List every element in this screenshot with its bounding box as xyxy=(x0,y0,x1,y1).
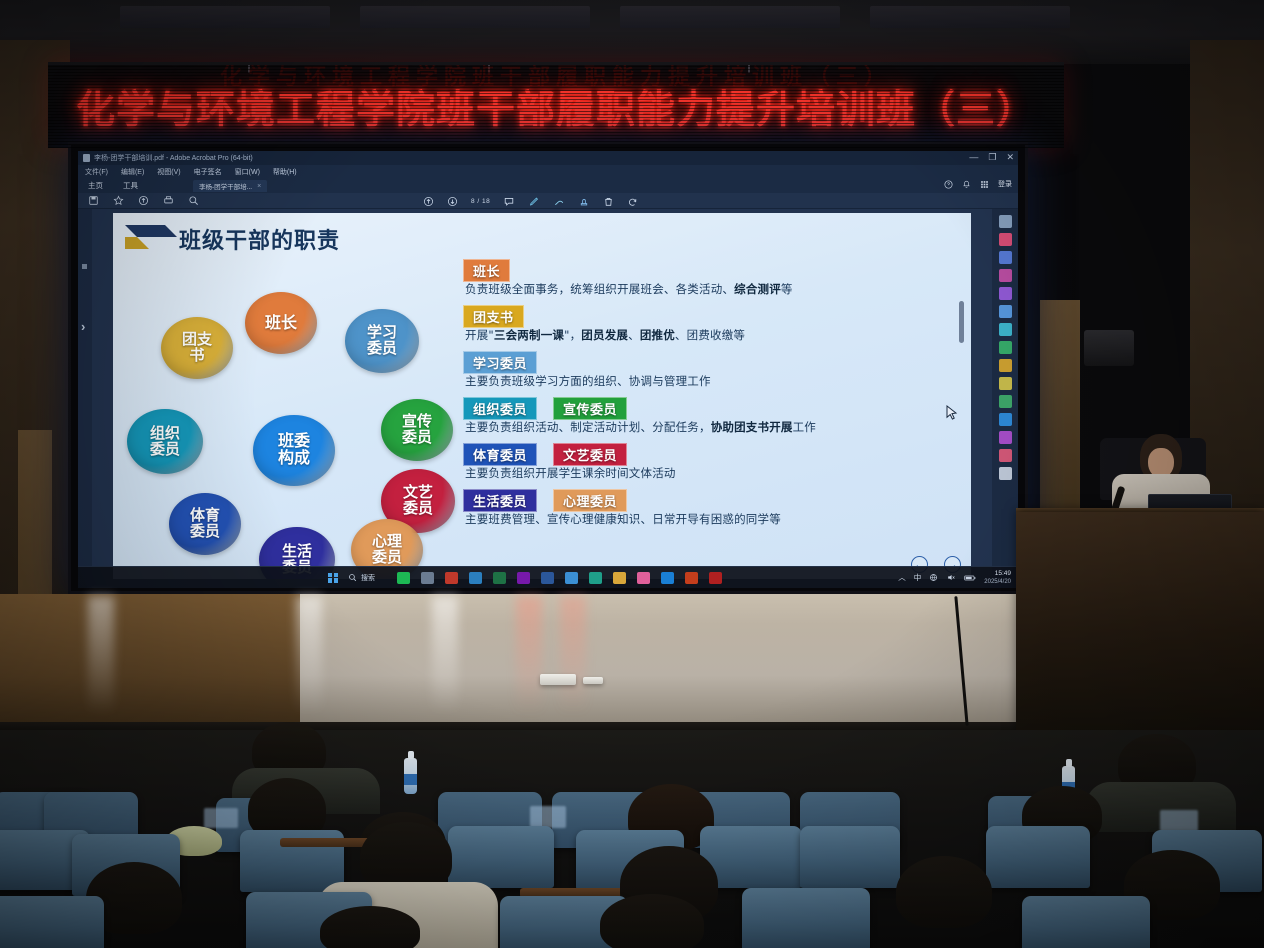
role-tag: 班长 xyxy=(463,259,510,282)
app-icon-wps-writer[interactable] xyxy=(445,572,458,584)
ime-indicator[interactable]: 中 xyxy=(914,572,922,583)
system-tray: ︿ 中 15:49 2025/4/20 xyxy=(898,570,1011,586)
role-bubble-label: 委员 xyxy=(367,341,397,357)
floor-reflection xyxy=(516,596,542,714)
role-description-part: 主要负责组织活动、制定活动计划、分配任务， xyxy=(465,420,711,434)
ceiling xyxy=(0,0,1264,64)
star-icon[interactable] xyxy=(113,195,124,206)
search-icon[interactable] xyxy=(188,195,199,206)
role-description: 负责班级全面事务，统筹组织开展班会、各类活动、综合测评等 xyxy=(465,281,793,297)
role-bubble: 宣传委员 xyxy=(381,399,453,461)
bell-icon[interactable] xyxy=(962,180,971,189)
page-indicator[interactable]: 8 / 18 xyxy=(471,198,490,205)
close-icon[interactable]: × xyxy=(257,183,261,190)
role-bubble-label: 委员 xyxy=(403,501,433,517)
acrobat-tools-rail xyxy=(992,209,1018,588)
laptop-glow xyxy=(204,808,238,828)
search-icon xyxy=(348,573,357,582)
windows-logo-icon xyxy=(328,573,338,583)
floor-reflection xyxy=(88,596,114,714)
role-description-part: 主要负责班级学习方面的组织、协调与管理工作 xyxy=(465,374,711,388)
auditorium-seat xyxy=(800,826,900,888)
role-description-part: 工作 xyxy=(793,420,816,434)
undo-icon[interactable] xyxy=(627,196,638,207)
role-tag: 生活委员 xyxy=(463,489,537,512)
left-panel-rail[interactable]: › xyxy=(78,209,92,588)
auditorium-seat xyxy=(742,888,870,948)
role-description-part: 、团费收缴等 xyxy=(675,328,745,342)
acrobat-top-right-actions: 登录 xyxy=(944,179,1012,189)
floor-reflection xyxy=(432,596,458,714)
role-tag: 学习委员 xyxy=(463,351,537,374)
role-description-part: "， xyxy=(564,328,581,342)
role-tag: 组织委员 xyxy=(463,397,537,420)
auditorium-seat xyxy=(0,896,104,948)
role-description-part: 开展" xyxy=(465,328,494,342)
help-circle-icon[interactable] xyxy=(944,180,953,189)
role-description-part: 负责班级全面事务，统筹组织开展班会、各类活动、 xyxy=(465,282,734,296)
export-pdf-tool[interactable] xyxy=(999,233,1012,246)
role-bubble: 团支书 xyxy=(161,317,233,379)
role-tag: 心理委员 xyxy=(553,489,627,512)
role-tag: 体育委员 xyxy=(463,443,537,466)
role-description-part: 主要负责组织开展学生课余时间文体活动 xyxy=(465,466,676,480)
role-description: 开展"三会两制一课"，团员发展、团推优、团费收缴等 xyxy=(465,327,745,343)
taskbar-app-icons xyxy=(397,572,722,584)
app-icon-cloud[interactable] xyxy=(469,572,482,584)
combine-files-tool[interactable] xyxy=(999,341,1012,354)
auditorium-seat xyxy=(1022,896,1150,948)
audience-head xyxy=(896,856,992,928)
close-button[interactable]: ✕ xyxy=(1006,152,1014,162)
vertical-scrollbar[interactable] xyxy=(959,301,964,343)
floor-object-device xyxy=(540,674,576,685)
led-banner: 化学与环境工程学院班干部履职能力提升培训班（三） 化学与环境工程学院班干部履职能… xyxy=(48,62,1064,148)
tab-tools[interactable]: 工具 xyxy=(123,180,138,191)
role-description: 主要负责组织开展学生课余时间文体活动 xyxy=(465,465,676,481)
role-bubble: 体育委员 xyxy=(169,493,241,555)
create-pdf-tool[interactable] xyxy=(999,251,1012,264)
auditorium-seat xyxy=(986,826,1090,888)
audience-head xyxy=(320,906,420,948)
auditorium-seating xyxy=(0,730,1264,948)
role-bubble-label: 班长 xyxy=(265,315,297,332)
role-bubble-label: 委员 xyxy=(372,550,402,566)
lecture-hall-photo: 化学与环境工程学院班干部履职能力提升培训班（三） 化学与环境工程学院班干部履职能… xyxy=(0,0,1264,948)
menu-file[interactable]: 文件(F) xyxy=(85,167,108,177)
menu-window[interactable]: 窗口(W) xyxy=(235,167,260,177)
laptop-glow xyxy=(530,806,566,828)
panel-dot-icon xyxy=(82,264,87,269)
app-icon-music[interactable] xyxy=(397,572,410,584)
highlight-icon[interactable] xyxy=(528,196,540,207)
role-bubble: 组织委员 xyxy=(127,409,203,474)
menu-esign[interactable]: 电子签名 xyxy=(194,167,222,177)
fill-sign-tool[interactable] xyxy=(999,359,1012,372)
app-icon-edge[interactable] xyxy=(661,572,674,584)
battery-icon[interactable] xyxy=(964,574,976,582)
app-icon-acrobat[interactable] xyxy=(709,572,722,584)
floor-reflection xyxy=(560,596,586,714)
grid-apps-icon[interactable] xyxy=(980,180,989,189)
role-bubble-label: 委员 xyxy=(150,442,180,458)
role-bubble-label: 书 xyxy=(189,348,204,364)
acrobat-titlebar: 李杨-团学干部培训.pdf - Adobe Acrobat Pro (64-bi… xyxy=(78,151,1018,165)
app-icon-pink[interactable] xyxy=(637,572,650,584)
menu-edit[interactable]: 编辑(E) xyxy=(121,167,144,177)
mouse-cursor-icon xyxy=(946,405,960,421)
acrobat-page-controls: 8 / 18 xyxy=(423,193,638,209)
minimize-button[interactable]: — xyxy=(969,152,978,162)
projection-screen: 李杨-团学干部培训.pdf - Adobe Acrobat Pro (64-bi… xyxy=(68,142,1028,594)
role-description-part: 协助团支书开展 xyxy=(711,420,793,434)
auditorium-seat xyxy=(448,826,554,888)
audience-head xyxy=(600,894,704,948)
draw-icon[interactable] xyxy=(553,196,565,207)
role-description: 主要班费管理、宣传心理健康知识、日常开导有困惑的同学等 xyxy=(465,511,781,527)
protect-tool[interactable] xyxy=(999,323,1012,336)
role-tag: 团支书 xyxy=(463,305,524,328)
slide-page: 班级干部的职责 团支书班长学习委员组织委员班委构成宣传委员文艺委员体育委员生活委… xyxy=(113,213,971,579)
slide-ribbon-decoration xyxy=(125,221,177,251)
network-icon[interactable] xyxy=(929,573,938,582)
taskbar-clock[interactable]: 15:49 2025/4/20 xyxy=(984,570,1011,586)
clock-time: 15:49 xyxy=(984,570,1011,578)
page-up-icon[interactable] xyxy=(423,196,434,207)
pdf-page-viewport: 班级干部的职责 团支书班长学习委员组织委员班委构成宣传委员文艺委员体育委员生活委… xyxy=(92,209,992,588)
start-button[interactable] xyxy=(328,573,338,583)
volume-icon[interactable] xyxy=(946,573,956,582)
role-description-part: 团推优 xyxy=(640,328,675,342)
role-tag: 文艺委员 xyxy=(553,443,627,466)
edit-pdf-tool[interactable] xyxy=(999,305,1012,318)
role-description: 主要负责组织活动、制定活动计划、分配任务，协助团支书开展工作 xyxy=(465,419,816,435)
app-icon-onenote[interactable] xyxy=(517,572,530,584)
save-icon[interactable] xyxy=(88,195,99,206)
role-description-part: 三会两制一课 xyxy=(494,328,564,342)
laptop-glow xyxy=(1160,810,1198,832)
role-bubble: 学习委员 xyxy=(345,309,419,373)
role-bubble-label: 委员 xyxy=(402,430,432,446)
document-tab[interactable]: 李杨-团学干部培... × xyxy=(193,180,267,192)
role-description-part: 、 xyxy=(628,328,640,342)
organize-pages-tool[interactable] xyxy=(999,269,1012,282)
chevron-up-icon[interactable]: ︿ xyxy=(898,572,906,583)
podium xyxy=(1016,512,1264,734)
acrobat-toolbar: 8 / 18 xyxy=(78,193,1018,209)
acrobat-menubar: 文件(F) 编辑(E) 视图(V) 电子签名 窗口(W) 帮助(H) xyxy=(78,165,1018,178)
acrobat-window: 李杨-团学干部培训.pdf - Adobe Acrobat Pro (64-bi… xyxy=(78,151,1018,588)
page-down-icon[interactable] xyxy=(447,196,458,207)
role-description: 主要负责班级学习方面的组织、协调与管理工作 xyxy=(465,373,711,389)
taskbar-search[interactable]: 搜索 xyxy=(348,573,375,583)
comment-icon[interactable] xyxy=(503,196,515,207)
search-placeholder: 搜索 xyxy=(361,573,375,583)
floor-object-small xyxy=(583,677,603,684)
wall-speaker xyxy=(1084,330,1134,366)
windows-taskbar: 搜索 ︿ 中 15:49 2025/4/20 xyxy=(78,566,1018,588)
window-controls: — ❐ ✕ xyxy=(969,152,1014,162)
role-bubble: 班委构成 xyxy=(253,415,335,486)
app-icon-screen[interactable] xyxy=(421,572,434,584)
window-title: 李杨-团学干部培训.pdf - Adobe Acrobat Pro (64-bi… xyxy=(94,153,253,163)
chevron-right-icon[interactable]: › xyxy=(81,319,85,334)
app-icon-powerpoint[interactable] xyxy=(685,572,698,584)
document-tab-label: 李杨-团学干部培... xyxy=(199,181,252,191)
role-description-part: 综合测评 xyxy=(734,282,781,296)
role-tag: 宣传委员 xyxy=(553,397,627,420)
app-icon-excel[interactable] xyxy=(493,572,506,584)
signin-button[interactable]: 登录 xyxy=(998,179,1012,189)
slide-title: 班级干部的职责 xyxy=(179,223,340,255)
app-icon-meeting[interactable] xyxy=(589,572,602,584)
print-icon[interactable] xyxy=(163,195,174,206)
role-bubble-label: 构成 xyxy=(278,450,310,467)
pdf-document-icon xyxy=(83,154,90,162)
maximize-button[interactable]: ❐ xyxy=(988,152,996,162)
wood-column-right xyxy=(1040,300,1080,520)
accessibility-tool[interactable] xyxy=(999,467,1012,480)
water-bottle xyxy=(404,758,417,794)
floor-reflection xyxy=(296,596,322,714)
menu-help[interactable]: 帮助(H) xyxy=(273,167,297,177)
highlight-tool[interactable] xyxy=(999,431,1012,444)
comment-tool[interactable] xyxy=(999,377,1012,390)
role-description-part: 等 xyxy=(781,282,793,296)
clock-date: 2025/4/20 xyxy=(984,578,1011,586)
adobe-sign-tool[interactable] xyxy=(999,449,1012,462)
measure-tool[interactable] xyxy=(999,413,1012,426)
app-icon-word[interactable] xyxy=(541,572,554,584)
tab-home[interactable]: 主页 xyxy=(88,180,103,191)
role-bubble-label: 委员 xyxy=(190,524,220,540)
app-icon-folder[interactable] xyxy=(613,572,626,584)
stamp-tool[interactable] xyxy=(999,395,1012,408)
share-icon[interactable] xyxy=(138,195,149,206)
acrobat-document-area: › 班级干部的职责 团支书班长学习委员组织委员班委构成宣传委员文艺委员体育委员生… xyxy=(78,209,1018,588)
role-description-part: 主要班费管理、宣传心理健康知识、日常开导有困惑的同学等 xyxy=(465,512,781,526)
menu-view[interactable]: 视图(V) xyxy=(157,167,180,177)
acrobat-tabbar: 主页 工具 李杨-团学干部培... × 登录 xyxy=(78,178,1018,193)
compress-tool[interactable] xyxy=(999,287,1012,300)
led-banner-text: 化学与环境工程学院班干部履职能力提升培训班（三） xyxy=(48,79,1064,135)
trash-icon[interactable] xyxy=(603,196,614,207)
stage-floor-wood xyxy=(0,594,300,730)
app-icon-sky[interactable] xyxy=(565,572,578,584)
role-bubble: 班长 xyxy=(245,292,317,354)
role-description-part: 团员发展 xyxy=(581,328,628,342)
stamp-icon[interactable] xyxy=(578,196,590,207)
search-tool[interactable] xyxy=(999,215,1012,228)
